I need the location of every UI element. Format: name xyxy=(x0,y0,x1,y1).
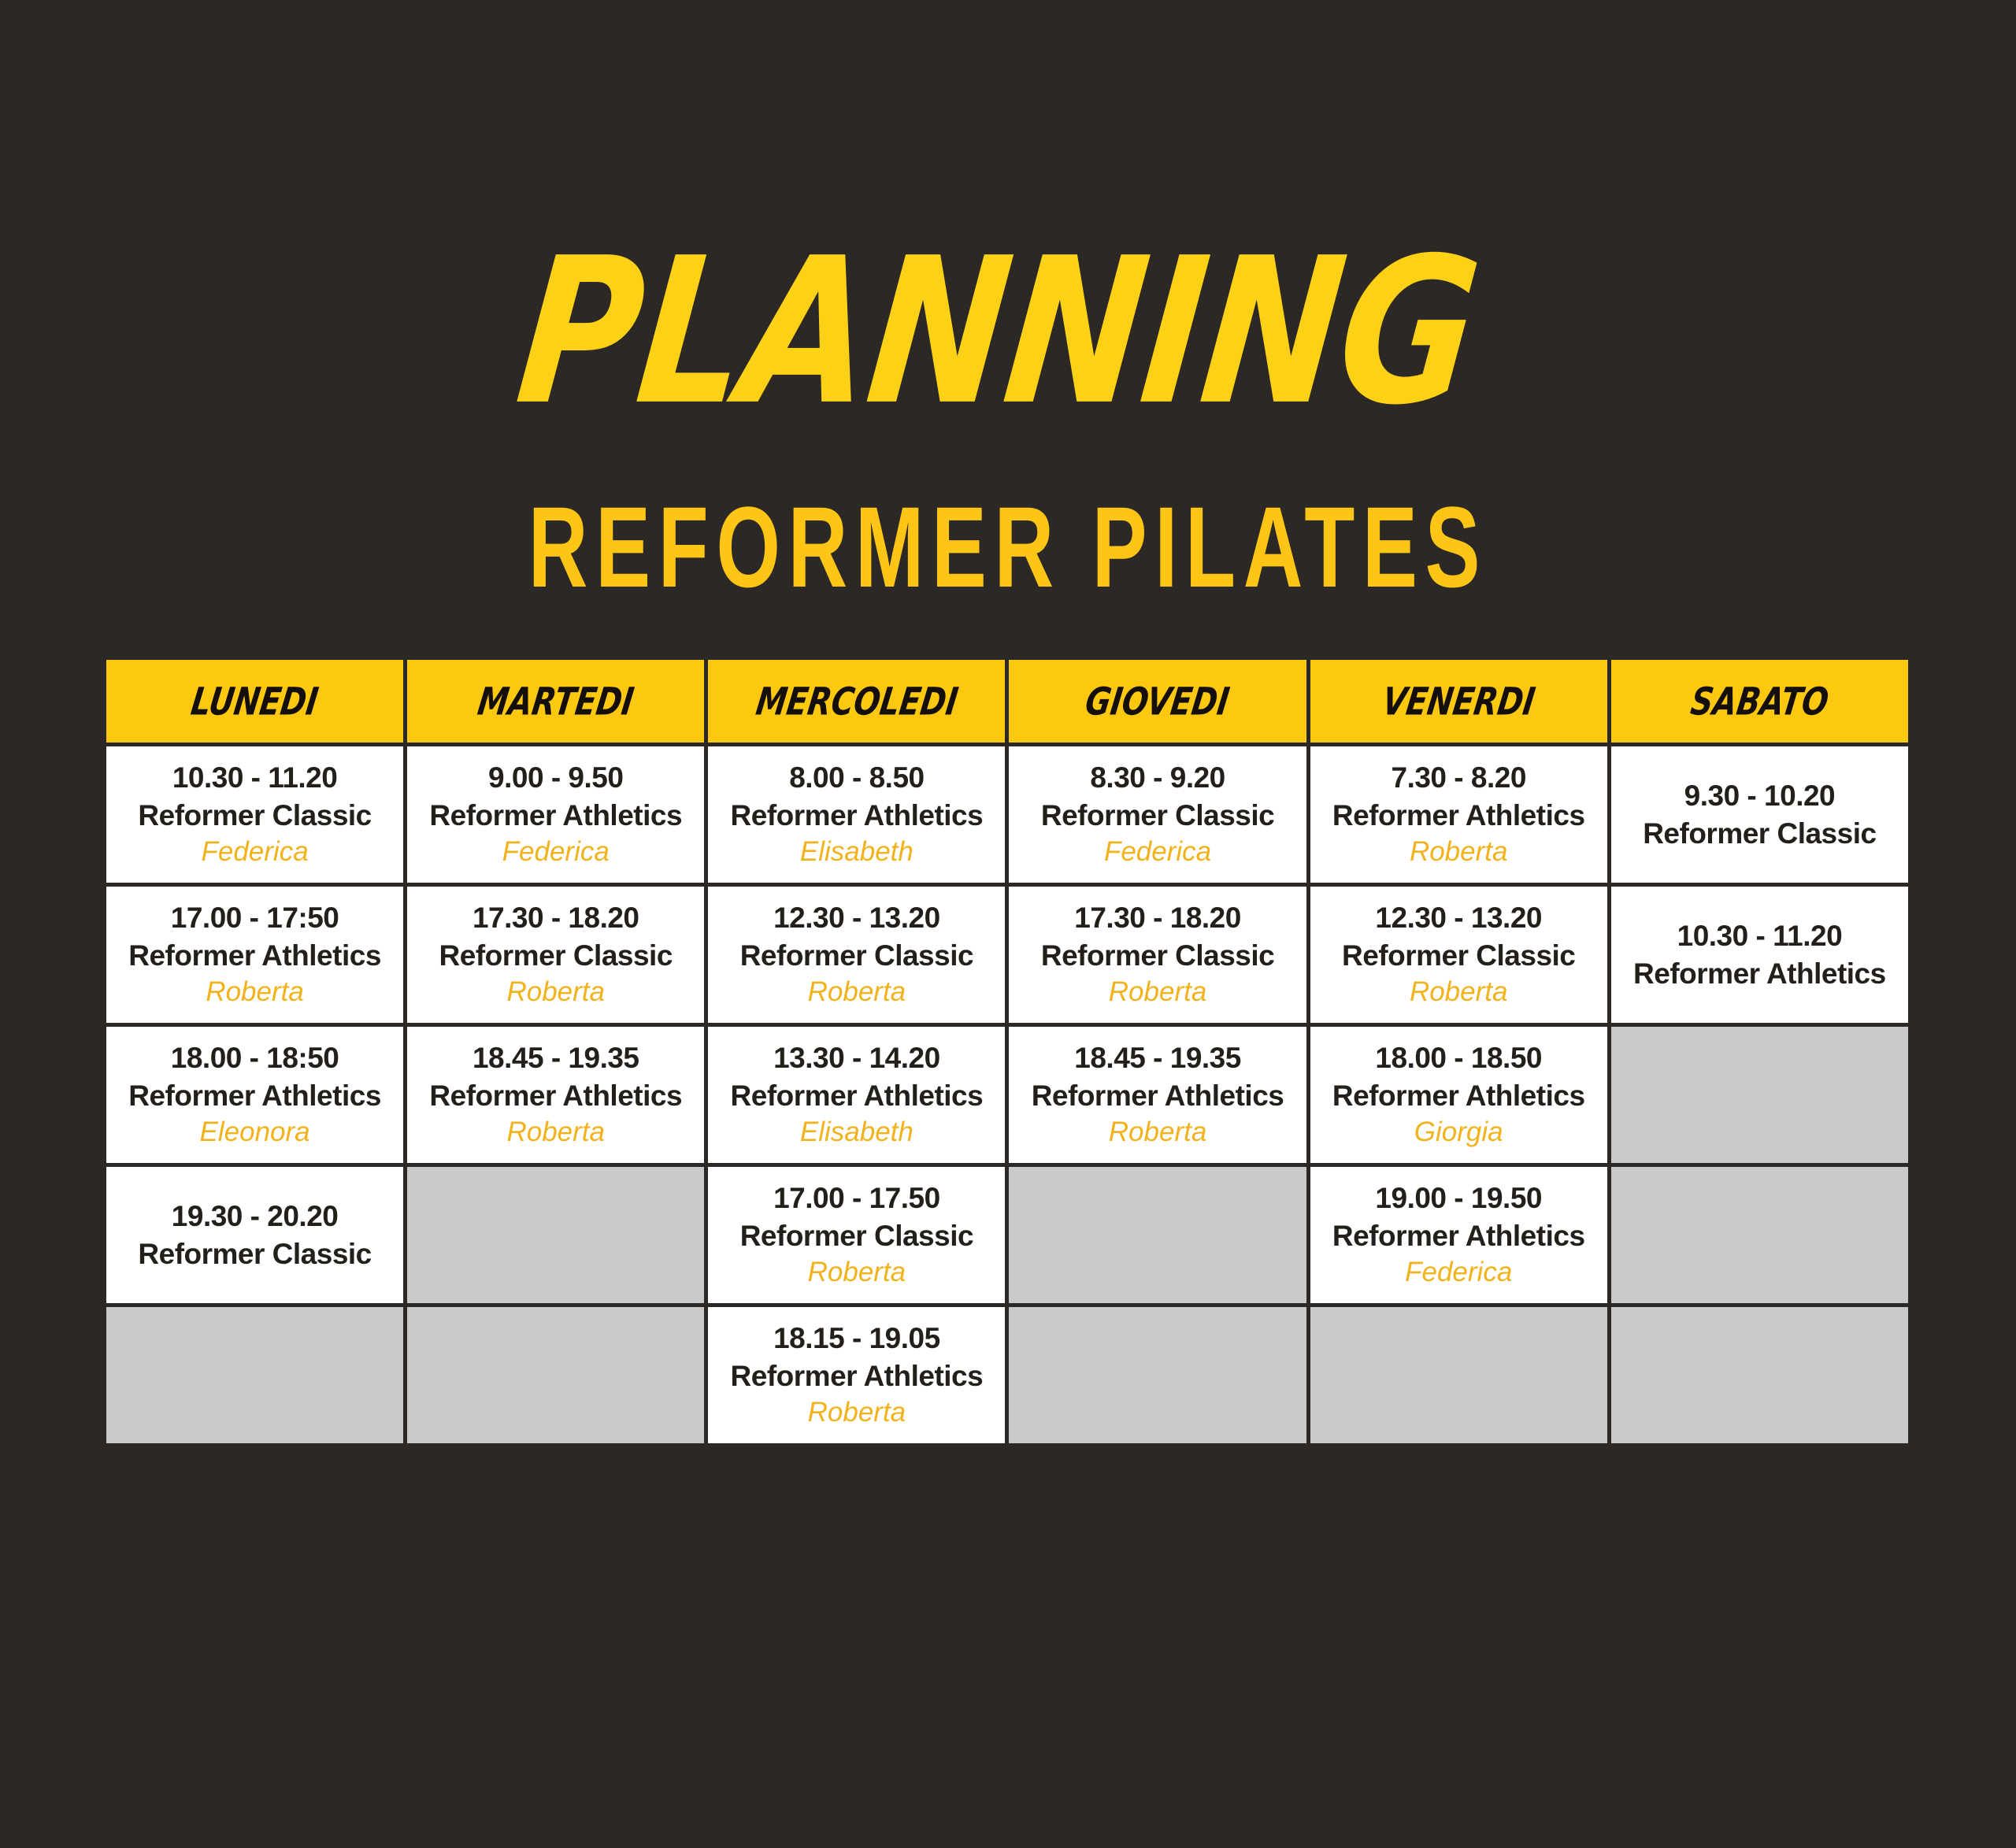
slot-time: 17.30 - 18.20 xyxy=(407,899,704,936)
slot-time: 18.15 - 19.05 xyxy=(708,1320,1005,1357)
poster-root: PLANNING REFORMER PILATES LUNEDI MARTEDI… xyxy=(0,0,2016,1848)
empty-slot xyxy=(406,1305,706,1446)
slot-class: Reformer Classic xyxy=(708,1217,1005,1254)
slot-class: Reformer Athletics xyxy=(407,1077,704,1114)
class-slot[interactable]: 18.00 - 18:50Reformer AthleticsEleonora xyxy=(105,1025,406,1165)
title-block: PLANNING REFORMER PILATES xyxy=(0,236,2016,579)
slot-time: 17.00 - 17:50 xyxy=(106,899,403,936)
day-header-label: SABATO xyxy=(1688,679,1831,724)
empty-slot xyxy=(1007,1305,1308,1446)
slot-class: Reformer Classic xyxy=(1310,937,1607,974)
slot-class: Reformer Athletics xyxy=(106,937,403,974)
day-header-venerdi: VENERDI xyxy=(1308,658,1609,745)
class-slot[interactable]: 18.45 - 19.35Reformer AthleticsRoberta xyxy=(1007,1025,1308,1165)
day-header-label: MERCOLEDI xyxy=(753,679,960,724)
table-row: 18.00 - 18:50Reformer AthleticsEleonora … xyxy=(105,1025,1910,1165)
slot-instructor: Roberta xyxy=(1310,974,1607,1010)
table-row: 19.30 - 20.20Reformer Classic 17.00 - 17… xyxy=(105,1165,1910,1305)
day-header-martedi: MARTEDI xyxy=(406,658,706,745)
empty-slot xyxy=(1609,1305,1910,1446)
page-subtitle: REFORMER PILATES xyxy=(30,480,1985,613)
slot-class: Reformer Athletics xyxy=(1310,797,1607,834)
slot-time: 12.30 - 13.20 xyxy=(1310,899,1607,936)
day-header-label: MARTEDI xyxy=(475,679,636,724)
slot-instructor: Roberta xyxy=(407,974,704,1010)
slot-time: 9.30 - 10.20 xyxy=(1611,777,1908,814)
slot-instructor: Giorgia xyxy=(1310,1114,1607,1150)
slot-time: 19.00 - 19.50 xyxy=(1310,1180,1607,1217)
class-slot[interactable]: 12.30 - 13.20Reformer ClassicRoberta xyxy=(1308,885,1609,1025)
slot-instructor: Elisabeth xyxy=(708,834,1005,870)
slot-class: Reformer Athletics xyxy=(1611,955,1908,992)
slot-class: Reformer Athletics xyxy=(708,797,1005,834)
slot-instructor: Federica xyxy=(407,834,704,870)
slot-class: Reformer Athletics xyxy=(407,797,704,834)
slot-time: 8.30 - 9.20 xyxy=(1009,759,1306,796)
slot-class: Reformer Classic xyxy=(106,797,403,834)
slot-instructor: Federica xyxy=(1009,834,1306,870)
slot-class: Reformer Athletics xyxy=(106,1077,403,1114)
slot-class: Reformer Classic xyxy=(407,937,704,974)
class-slot[interactable]: 8.30 - 9.20Reformer ClassicFederica xyxy=(1007,745,1308,885)
slot-class: Reformer Classic xyxy=(1009,937,1306,974)
slot-time: 19.30 - 20.20 xyxy=(106,1198,403,1235)
day-header-label: VENERDI xyxy=(1380,679,1538,724)
empty-slot xyxy=(105,1305,406,1446)
schedule-body: 10.30 - 11.20Reformer ClassicFederica 9.… xyxy=(105,745,1910,1446)
day-header-mercoledi: MERCOLEDI xyxy=(706,658,1007,745)
slot-instructor: Roberta xyxy=(708,974,1005,1010)
day-header-lunedi: LUNEDI xyxy=(105,658,406,745)
class-slot[interactable]: 19.30 - 20.20Reformer Classic xyxy=(105,1165,406,1305)
schedule-header-row: LUNEDI MARTEDI MERCOLEDI GIOVEDI VENERDI… xyxy=(105,658,1910,745)
class-slot[interactable]: 10.30 - 11.20Reformer Athletics xyxy=(1609,885,1910,1025)
slot-instructor: Roberta xyxy=(1009,974,1306,1010)
day-header-giovedi: GIOVEDI xyxy=(1007,658,1308,745)
slot-time: 13.30 - 14.20 xyxy=(708,1039,1005,1076)
slot-instructor: Federica xyxy=(106,834,403,870)
slot-class: Reformer Classic xyxy=(1611,815,1908,852)
slot-instructor: Roberta xyxy=(708,1254,1005,1291)
slot-class: Reformer Athletics xyxy=(708,1077,1005,1114)
schedule-table: LUNEDI MARTEDI MERCOLEDI GIOVEDI VENERDI… xyxy=(102,656,1912,1447)
slot-time: 12.30 - 13.20 xyxy=(708,899,1005,936)
class-slot[interactable]: 17.00 - 17:50Reformer AthleticsRoberta xyxy=(105,885,406,1025)
table-row: 18.15 - 19.05Reformer AthleticsRoberta xyxy=(105,1305,1910,1446)
slot-class: Reformer Athletics xyxy=(1310,1077,1607,1114)
slot-time: 18.00 - 18:50 xyxy=(106,1039,403,1076)
slot-time: 17.00 - 17.50 xyxy=(708,1180,1005,1217)
day-header-label: GIOVEDI xyxy=(1083,679,1232,724)
class-slot[interactable]: 17.30 - 18.20Reformer ClassicRoberta xyxy=(1007,885,1308,1025)
class-slot[interactable]: 12.30 - 13.20Reformer ClassicRoberta xyxy=(706,885,1007,1025)
slot-time: 18.45 - 19.35 xyxy=(407,1039,704,1076)
slot-time: 10.30 - 11.20 xyxy=(1611,917,1908,954)
class-slot[interactable]: 18.45 - 19.35Reformer AthleticsRoberta xyxy=(406,1025,706,1165)
slot-class: Reformer Athletics xyxy=(708,1357,1005,1394)
slot-instructor: Roberta xyxy=(407,1114,704,1150)
class-slot[interactable]: 8.00 - 8.50Reformer AthleticsElisabeth xyxy=(706,745,1007,885)
page-title: PLANNING xyxy=(0,236,2016,428)
class-slot[interactable]: 13.30 - 14.20Reformer AthleticsElisabeth xyxy=(706,1025,1007,1165)
slot-instructor: Roberta xyxy=(1009,1114,1306,1150)
slot-time: 10.30 - 11.20 xyxy=(106,759,403,796)
slot-class: Reformer Classic xyxy=(1009,797,1306,834)
slot-time: 8.00 - 8.50 xyxy=(708,759,1005,796)
empty-slot xyxy=(1609,1165,1910,1305)
empty-slot xyxy=(1308,1305,1609,1446)
slot-instructor: Roberta xyxy=(708,1394,1005,1431)
day-header-sabato: SABATO xyxy=(1609,658,1910,745)
slot-class: Reformer Athletics xyxy=(1009,1077,1306,1114)
class-slot[interactable]: 18.15 - 19.05Reformer AthleticsRoberta xyxy=(706,1305,1007,1446)
slot-time: 18.45 - 19.35 xyxy=(1009,1039,1306,1076)
slot-instructor: Roberta xyxy=(106,974,403,1010)
class-slot[interactable]: 10.30 - 11.20Reformer ClassicFederica xyxy=(105,745,406,885)
class-slot[interactable]: 17.30 - 18.20Reformer ClassicRoberta xyxy=(406,885,706,1025)
class-slot[interactable]: 7.30 - 8.20Reformer AthleticsRoberta xyxy=(1308,745,1609,885)
table-row: 10.30 - 11.20Reformer ClassicFederica 9.… xyxy=(105,745,1910,885)
slot-time: 7.30 - 8.20 xyxy=(1310,759,1607,796)
slot-time: 18.00 - 18.50 xyxy=(1310,1039,1607,1076)
empty-slot xyxy=(406,1165,706,1305)
slot-instructor: Eleonora xyxy=(106,1114,403,1150)
class-slot[interactable]: 17.00 - 17.50Reformer ClassicRoberta xyxy=(706,1165,1007,1305)
day-header-label: LUNEDI xyxy=(188,679,321,724)
slot-instructor: Elisabeth xyxy=(708,1114,1005,1150)
slot-time: 9.00 - 9.50 xyxy=(407,759,704,796)
slot-class: Reformer Classic xyxy=(708,937,1005,974)
slot-class: Reformer Athletics xyxy=(1310,1217,1607,1254)
class-slot[interactable]: 18.00 - 18.50Reformer AthleticsGiorgia xyxy=(1308,1025,1609,1165)
slot-instructor: Federica xyxy=(1310,1254,1607,1291)
class-slot[interactable]: 9.30 - 10.20Reformer Classic xyxy=(1609,745,1910,885)
slot-class: Reformer Classic xyxy=(106,1235,403,1272)
table-row: 17.00 - 17:50Reformer AthleticsRoberta 1… xyxy=(105,885,1910,1025)
slot-instructor: Roberta xyxy=(1310,834,1607,870)
empty-slot xyxy=(1007,1165,1308,1305)
slot-time: 17.30 - 18.20 xyxy=(1009,899,1306,936)
class-slot[interactable]: 19.00 - 19.50Reformer AthleticsFederica xyxy=(1308,1165,1609,1305)
class-slot[interactable]: 9.00 - 9.50Reformer AthleticsFederica xyxy=(406,745,706,885)
empty-slot xyxy=(1609,1025,1910,1165)
